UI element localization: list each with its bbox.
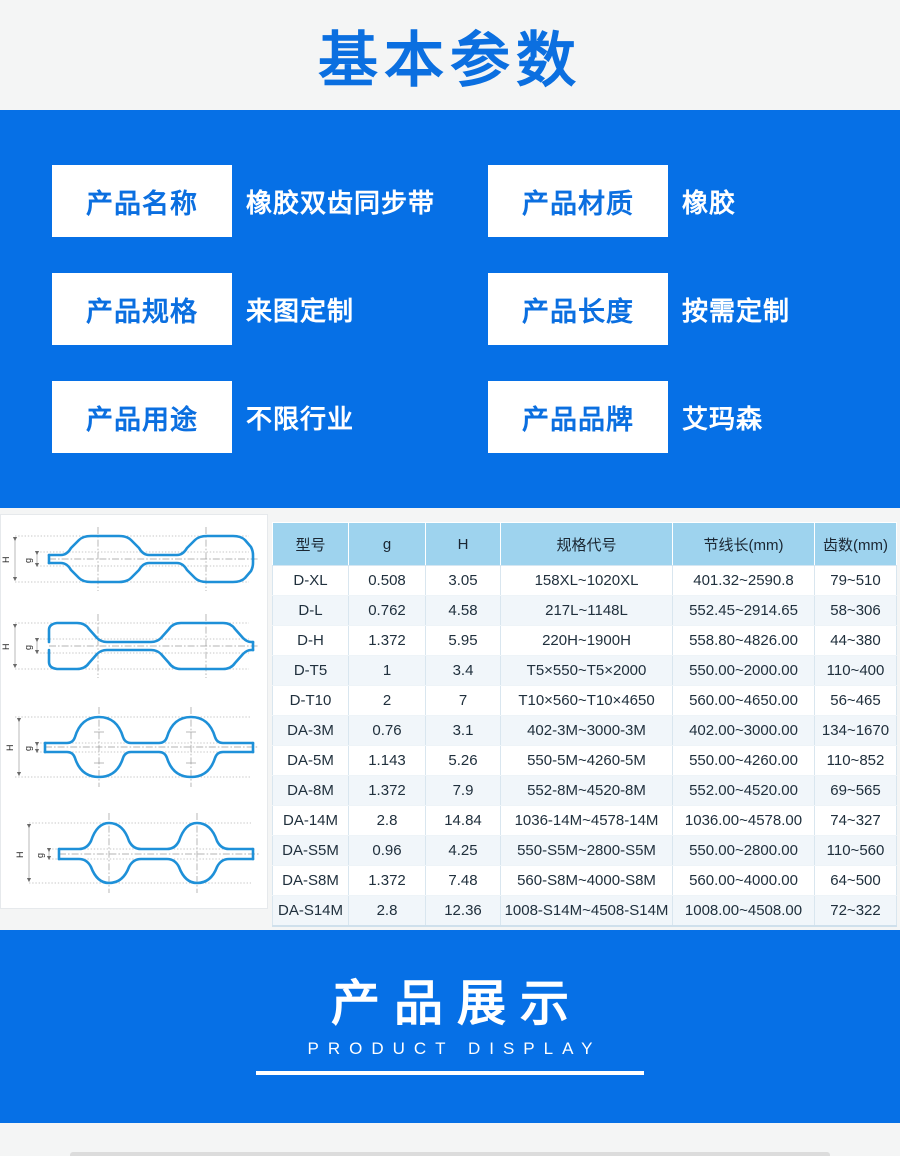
cell-g: 1.372 [349,626,426,656]
dim-label-H: H [15,852,25,859]
cell-tooth-count: 69~565 [815,776,897,806]
basic-params-title-band: 基本参数 [0,0,900,110]
cell-model: DA-5M [273,746,349,776]
cell-h: 3.4 [426,656,501,686]
cell-spec-code: 220H~1900H [501,626,673,656]
cell-h: 7 [426,686,501,716]
cell-tooth-count: 44~380 [815,626,897,656]
cell-g: 0.96 [349,836,426,866]
column-header-h: H [426,523,501,566]
cell-model: DA-14M [273,806,349,836]
cell-g: 1.372 [349,866,426,896]
param-value-product-name: 橡胶双齿同步带 [232,165,435,237]
cell-pitch-length: 552.00~4520.00 [673,776,815,806]
belt-profile-1: H g [1,527,259,591]
param-pair-length: 产品长度 按需定制 [488,273,848,345]
cell-model: D-L [273,596,349,626]
product-detail-page: 基本参数 产品名称 橡胶双齿同步带 产品材质 橡胶 产品规格 来图定制 产品长度… [0,0,900,1156]
column-header-tooth-count: 齿数(mm) [815,523,897,566]
product-display-section: 产品展示 PRODUCT DISPLAY [0,930,900,1123]
cell-g: 1.143 [349,746,426,776]
belt-profile-4: H g [15,813,259,893]
table-body: D-XL0.5083.05158XL~1020XL401.32~2590.879… [273,566,897,927]
cell-h: 3.05 [426,566,501,596]
product-display-title-cn: 产品展示 [317,978,583,1029]
table-row: DA-5M1.1435.26550-5M~4260-5M550.00~4260.… [273,746,897,776]
param-pair-spec: 产品规格 来图定制 [52,273,470,345]
column-header-pitch-length: 节线长(mm) [673,523,815,566]
cell-h: 4.25 [426,836,501,866]
cell-h: 7.9 [426,776,501,806]
param-value-spec: 来图定制 [232,273,354,345]
dim-label-g: g [23,558,33,563]
cell-spec-code: T5×550~T5×2000 [501,656,673,686]
spec-table-container: 型号 g H 规格代号 节线长(mm) 齿数(mm) D-XL0.5083.05… [272,522,896,927]
cell-spec-code: 552-8M~4520-8M [501,776,673,806]
param-value-brand: 艾玛森 [668,381,763,453]
table-header-row: 型号 g H 规格代号 节线长(mm) 齿数(mm) [273,523,897,566]
cell-pitch-length: 560.00~4000.00 [673,866,815,896]
table-row: DA-8M1.3727.9552-8M~4520-8M552.00~4520.0… [273,776,897,806]
cell-h: 14.84 [426,806,501,836]
cell-pitch-length: 1036.00~4578.00 [673,806,815,836]
param-pair-material: 产品材质 橡胶 [488,165,848,237]
cell-model: DA-8M [273,776,349,806]
cell-model: D-T10 [273,686,349,716]
param-key-product-name: 产品名称 [52,165,232,237]
param-key-material: 产品材质 [488,165,668,237]
cell-pitch-length: 1008.00~4508.00 [673,896,815,927]
cell-pitch-length: 550.00~4260.00 [673,746,815,776]
param-value-usage: 不限行业 [232,381,354,453]
cell-spec-code: 550-S5M~2800-S5M [501,836,673,866]
cell-spec-code: 1036-14M~4578-14M [501,806,673,836]
cell-g: 2.8 [349,806,426,836]
param-row: 产品名称 橡胶双齿同步带 产品材质 橡胶 [0,165,900,237]
param-key-usage: 产品用途 [52,381,232,453]
cell-tooth-count: 58~306 [815,596,897,626]
cell-tooth-count: 72~322 [815,896,897,927]
column-header-g: g [349,523,426,566]
column-header-spec-code: 规格代号 [501,523,673,566]
cell-spec-code: 1008-S14M~4508-S14M [501,896,673,927]
cell-spec-code: 550-5M~4260-5M [501,746,673,776]
cell-h: 7.48 [426,866,501,896]
param-key-length: 产品长度 [488,273,668,345]
cell-pitch-length: 552.45~2914.65 [673,596,815,626]
title-underline-rule [256,1071,644,1075]
cell-tooth-count: 79~510 [815,566,897,596]
cell-pitch-length: 560.00~4650.00 [673,686,815,716]
product-display-title-en: PRODUCT DISPLAY [298,1039,601,1059]
cell-tooth-count: 56~465 [815,686,897,716]
cell-spec-code: 217L~1148L [501,596,673,626]
cell-model: DA-S8M [273,866,349,896]
belt-profile-diagram-card: .bl{fill:none;stroke:#1e90d8;stroke-widt… [0,514,268,909]
dim-label-g: g [35,853,45,858]
cell-spec-code: 158XL~1020XL [501,566,673,596]
table-row: DA-14M2.814.841036-14M~4578-14M1036.00~4… [273,806,897,836]
cell-g: 1 [349,656,426,686]
dim-label-H: H [1,644,11,651]
param-row: 产品规格 来图定制 产品长度 按需定制 [0,273,900,345]
cell-model: D-T5 [273,656,349,686]
table-row: D-T1027T10×560~T10×4650560.00~4650.0056~… [273,686,897,716]
cell-model: D-XL [273,566,349,596]
table-row: DA-S5M0.964.25550-S5M~2800-S5M550.00~280… [273,836,897,866]
cell-g: 1.372 [349,776,426,806]
table-row: D-XL0.5083.05158XL~1020XL401.32~2590.879… [273,566,897,596]
cell-h: 5.95 [426,626,501,656]
table-row: DA-3M0.763.1402-3M~3000-3M402.00~3000.00… [273,716,897,746]
cell-g: 2 [349,686,426,716]
cell-pitch-length: 401.32~2590.8 [673,566,815,596]
dim-label-H: H [1,557,11,564]
param-pair-product-name: 产品名称 橡胶双齿同步带 [52,165,470,237]
cell-g: 0.508 [349,566,426,596]
cell-model: DA-S14M [273,896,349,927]
table-row: DA-S14M2.812.361008-S14M~4508-S14M1008.0… [273,896,897,927]
cell-spec-code: T10×560~T10×4650 [501,686,673,716]
cell-pitch-length: 550.00~2800.00 [673,836,815,866]
cell-model: DA-3M [273,716,349,746]
cell-tooth-count: 110~400 [815,656,897,686]
cell-tooth-count: 134~1670 [815,716,897,746]
page-title: 基本参数 [318,12,582,99]
dim-label-g: g [23,645,33,650]
param-key-spec: 产品规格 [52,273,232,345]
cell-pitch-length: 402.00~3000.00 [673,716,815,746]
spec-table: 型号 g H 规格代号 节线长(mm) 齿数(mm) D-XL0.5083.05… [272,522,897,927]
param-pair-brand: 产品品牌 艾玛森 [488,381,848,453]
dim-label-g: g [23,746,33,751]
cell-model: DA-S5M [273,836,349,866]
cell-h: 4.58 [426,596,501,626]
table-row: D-H1.3725.95220H~1900H558.80~4826.0044~3… [273,626,897,656]
bottom-card-edge [70,1152,830,1156]
cell-h: 12.36 [426,896,501,927]
table-row: D-T513.4T5×550~T5×2000550.00~2000.00110~… [273,656,897,686]
param-pair-usage: 产品用途 不限行业 [52,381,470,453]
cell-pitch-length: 550.00~2000.00 [673,656,815,686]
cell-h: 5.26 [426,746,501,776]
cell-tooth-count: 64~500 [815,866,897,896]
cell-h: 3.1 [426,716,501,746]
parameters-section: 产品名称 橡胶双齿同步带 产品材质 橡胶 产品规格 来图定制 产品长度 按需定制… [0,110,900,508]
param-row: 产品用途 不限行业 产品品牌 艾玛森 [0,381,900,453]
belt-profile-3: H g [5,707,259,787]
table-row: D-L0.7624.58217L~1148L552.45~2914.6558~3… [273,596,897,626]
cell-tooth-count: 74~327 [815,806,897,836]
cell-spec-code: 402-3M~3000-3M [501,716,673,746]
belt-profile-2: H g [1,614,259,678]
cell-tooth-count: 110~852 [815,746,897,776]
cell-spec-code: 560-S8M~4000-S8M [501,866,673,896]
cell-pitch-length: 558.80~4826.00 [673,626,815,656]
cell-g: 0.76 [349,716,426,746]
column-header-model: 型号 [273,523,349,566]
table-row: DA-S8M1.3727.48560-S8M~4000-S8M560.00~40… [273,866,897,896]
specifications-section: .bl{fill:none;stroke:#1e90d8;stroke-widt… [0,508,900,930]
param-value-length: 按需定制 [668,273,790,345]
dim-label-H: H [5,745,15,752]
param-key-brand: 产品品牌 [488,381,668,453]
cell-g: 0.762 [349,596,426,626]
cell-tooth-count: 110~560 [815,836,897,866]
cell-g: 2.8 [349,896,426,927]
belt-cross-section-diagrams: .bl{fill:none;stroke:#1e90d8;stroke-widt… [1,515,267,908]
param-value-material: 橡胶 [668,165,736,237]
cell-model: D-H [273,626,349,656]
